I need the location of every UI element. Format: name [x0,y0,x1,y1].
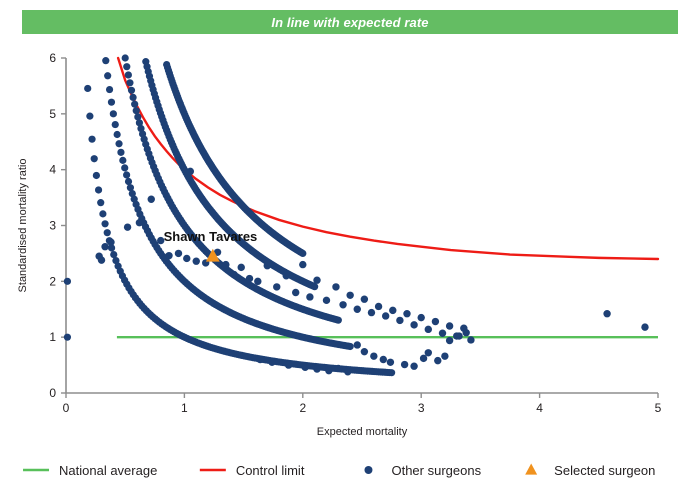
data-point[interactable] [123,171,130,178]
data-point[interactable] [121,164,128,171]
chart-page: In line with expected rate 0123456012345… [0,0,700,500]
y-tick-label: 3 [49,219,56,233]
legend-item-control-limit[interactable]: Control limit [200,463,305,478]
data-point[interactable] [112,121,119,128]
data-point[interactable] [110,110,117,117]
data-point[interactable] [313,365,320,372]
data-point[interactable] [95,186,102,193]
data-point[interactable] [335,365,342,372]
data-point[interactable] [382,312,389,319]
data-point[interactable] [88,136,95,143]
data-point[interactable] [299,250,306,257]
data-point[interactable] [133,107,140,114]
data-point[interactable] [410,321,417,328]
other-surgeons-layer [64,54,649,376]
data-point[interactable] [123,63,130,70]
data-point[interactable] [603,310,610,317]
data-point[interactable] [325,367,332,374]
legend-label: Other surgeons [391,463,481,478]
data-point[interactable] [285,361,292,368]
data-point[interactable] [439,330,446,337]
data-point[interactable] [222,261,229,268]
data-point[interactable] [306,293,313,300]
data-point[interactable] [256,356,263,363]
data-point[interactable] [254,278,261,285]
data-point[interactable] [98,256,105,263]
data-point[interactable] [299,261,306,268]
x-tick-label: 2 [299,401,306,415]
data-point[interactable] [129,94,136,101]
data-point[interactable] [193,258,200,265]
data-point[interactable] [446,337,453,344]
data-point[interactable] [119,157,126,164]
data-point[interactable] [125,178,132,185]
data-point[interactable] [313,277,320,284]
x-tick-label: 5 [655,401,662,415]
data-point[interactable] [446,322,453,329]
data-point[interactable] [93,172,100,179]
legend-item-other-surgeons[interactable]: Other surgeons [364,463,481,478]
data-point[interactable] [101,243,108,250]
data-point[interactable] [183,255,190,262]
data-point[interactable] [410,363,417,370]
data-point[interactable] [368,309,375,316]
data-point[interactable] [238,264,245,271]
y-tick-label: 2 [49,274,56,288]
legend-item-selected-surgeon[interactable]: Selected surgeon [525,463,655,478]
surgeon-name-annotation: Shawn Tavares [164,229,258,244]
data-point[interactable] [388,369,395,376]
legend-label: Control limit [236,463,305,478]
data-point[interactable] [64,278,71,285]
data-point[interactable] [107,239,114,246]
data-point[interactable] [361,296,368,303]
data-point[interactable] [273,283,280,290]
data-point[interactable] [104,229,111,236]
data-point[interactable] [104,72,111,79]
data-point[interactable] [131,101,138,108]
x-tick-label: 4 [536,401,543,415]
data-point[interactable] [425,326,432,333]
data-point[interactable] [323,297,330,304]
data-point[interactable] [347,343,354,350]
data-point[interactable] [346,292,353,299]
data-point[interactable] [114,131,121,138]
data-point[interactable] [311,283,318,290]
data-point[interactable] [106,86,113,93]
y-tick-label: 0 [49,386,56,400]
data-point[interactable] [441,352,448,359]
y-tick-label: 6 [49,51,56,65]
data-point[interactable] [339,301,346,308]
data-point[interactable] [125,71,132,78]
plot-svg: 0123456012345Expected mortalityStandardi… [0,0,700,500]
data-point[interactable] [86,113,93,120]
data-point[interactable] [122,54,129,61]
data-point[interactable] [332,283,339,290]
data-point[interactable] [344,368,351,375]
data-point[interactable] [418,314,425,321]
data-point[interactable] [434,357,441,364]
y-tick-label: 4 [49,163,56,177]
data-point[interactable] [108,99,115,106]
data-point[interactable] [375,303,382,310]
data-point[interactable] [115,140,122,147]
legend-label: Selected surgeon [554,463,655,478]
data-point[interactable] [387,359,394,366]
data-point[interactable] [467,336,474,343]
data-point[interactable] [187,168,194,175]
data-point[interactable] [292,289,299,296]
data-point[interactable] [641,323,648,330]
data-point[interactable] [102,57,109,64]
data-point[interactable] [462,329,469,336]
x-axis-title: Expected mortality [317,426,408,438]
y-tick-label: 5 [49,107,56,121]
data-point[interactable] [128,87,135,94]
data-point[interactable] [136,219,143,226]
y-axis-title: Standardised mortality ratio [17,159,29,293]
x-tick-label: 3 [418,401,425,415]
data-point[interactable] [246,275,253,282]
legend: National averageControl limitOther surge… [23,463,655,478]
data-point[interactable] [230,271,237,278]
x-tick-label: 1 [181,401,188,415]
legend-label: National average [59,463,157,478]
data-point[interactable] [396,317,403,324]
data-point[interactable] [432,318,439,325]
data-point[interactable] [389,307,396,314]
data-point[interactable] [401,361,408,368]
data-point[interactable] [101,220,108,227]
x-tick-label: 0 [63,401,70,415]
data-point[interactable] [370,352,377,359]
data-point[interactable] [148,196,155,203]
data-point[interactable] [354,341,361,348]
data-point[interactable] [91,155,98,162]
data-point[interactable] [380,356,387,363]
data-point[interactable] [264,262,271,269]
data-point[interactable] [301,364,308,371]
data-point[interactable] [97,199,104,206]
data-point[interactable] [165,252,172,259]
data-point[interactable] [361,348,368,355]
data-point[interactable] [403,310,410,317]
data-point[interactable] [354,306,361,313]
data-point[interactable] [335,317,342,324]
annotation-layer: Shawn Tavares [164,229,258,244]
data-point[interactable] [455,332,462,339]
data-point[interactable] [126,79,133,86]
data-point[interactable] [64,334,71,341]
data-point[interactable] [283,272,290,279]
legend-item-national-average[interactable]: National average [23,463,157,478]
data-point[interactable] [84,85,91,92]
data-point[interactable] [268,359,275,366]
y-tick-label: 1 [49,330,56,344]
data-point[interactable] [425,349,432,356]
data-point[interactable] [175,250,182,257]
data-point[interactable] [117,149,124,156]
data-point[interactable] [99,210,106,217]
funnel-plot: 0123456012345Expected mortalityStandardi… [0,0,700,500]
data-point[interactable] [124,223,131,230]
